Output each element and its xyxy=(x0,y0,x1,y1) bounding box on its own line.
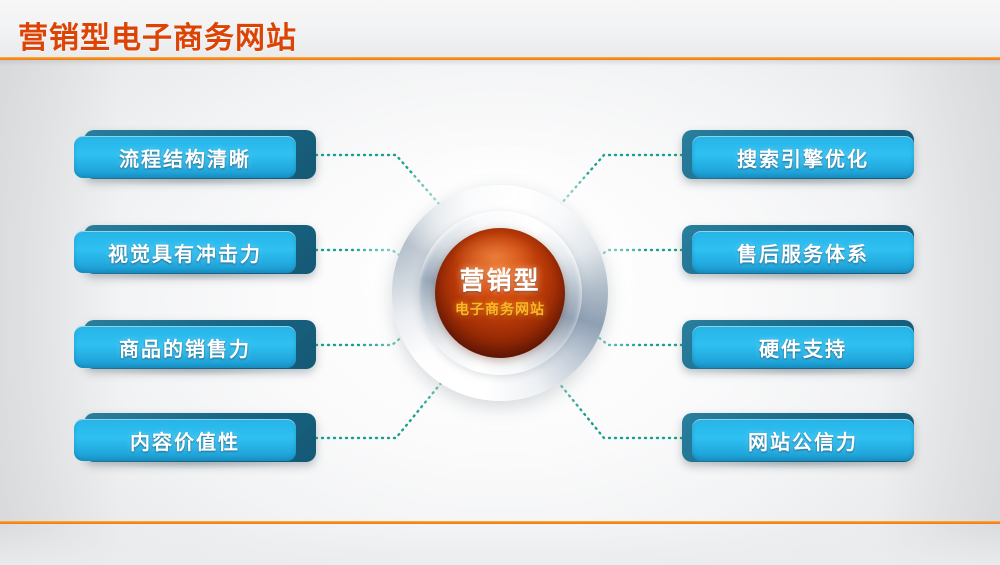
hub-main-label: 营销型 xyxy=(459,267,540,295)
pill-label: 售后服务体系 xyxy=(737,238,869,267)
pill-right-4[interactable]: 网站公信力 xyxy=(682,413,914,462)
pill-face[interactable]: 售后服务体系 xyxy=(692,231,914,273)
pill-face[interactable]: 网站公信力 xyxy=(692,419,914,461)
pill-face[interactable]: 流程结构清晰 xyxy=(74,136,296,178)
pill-label: 网站公信力 xyxy=(748,426,858,455)
pill-face[interactable]: 视觉具有冲击力 xyxy=(74,231,296,273)
hub-sub-label: 电子商务网站 xyxy=(455,299,545,319)
pill-label: 硬件支持 xyxy=(759,333,847,362)
pill-left-4[interactable]: 内容价值性 xyxy=(74,413,306,462)
pill-label: 搜索引擎优化 xyxy=(737,143,869,172)
pill-label: 视觉具有冲击力 xyxy=(108,238,262,267)
pill-face[interactable]: 商品的销售力 xyxy=(74,326,296,368)
pill-right-2[interactable]: 售后服务体系 xyxy=(682,225,914,274)
pill-label: 流程结构清晰 xyxy=(119,143,251,172)
pill-left-1[interactable]: 流程结构清晰 xyxy=(74,130,306,179)
pill-label: 商品的销售力 xyxy=(119,333,251,362)
hub-sphere: 营销型 电子商务网站 xyxy=(435,228,565,358)
center-hub: 营销型 电子商务网站 xyxy=(392,185,608,401)
pill-right-1[interactable]: 搜索引擎优化 xyxy=(682,130,914,179)
pill-face[interactable]: 硬件支持 xyxy=(692,326,914,368)
slide-canvas: 营销型电子商务网站 营销型 电子商务网站 xyxy=(0,0,1000,565)
pill-face[interactable]: 搜索引擎优化 xyxy=(692,136,914,178)
pill-label: 内容价值性 xyxy=(130,426,240,455)
pill-left-3[interactable]: 商品的销售力 xyxy=(74,320,306,369)
pill-right-3[interactable]: 硬件支持 xyxy=(682,320,914,369)
pill-face[interactable]: 内容价值性 xyxy=(74,419,296,461)
pill-left-2[interactable]: 视觉具有冲击力 xyxy=(74,225,306,274)
